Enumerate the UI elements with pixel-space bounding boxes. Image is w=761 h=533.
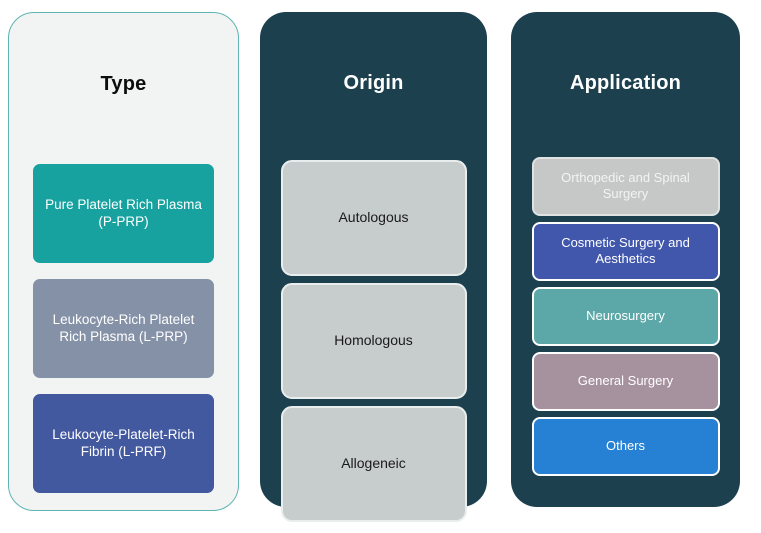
card-label: Cosmetic Surgery and Aesthetics	[561, 235, 690, 268]
card-label: Leukocyte-Platelet-Rich Fibrin (L-PRF)	[52, 426, 195, 460]
card-label-line2: Fibrin (L-PRF)	[81, 444, 167, 459]
card-autologous[interactable]: Autologous	[281, 160, 467, 276]
card-orthopedic-and-spinal-surgery[interactable]: Orthopedic and Spinal Surgery	[532, 157, 720, 216]
card-homologous[interactable]: Homologous	[281, 283, 467, 399]
card-label-line1: Cosmetic Surgery and	[561, 235, 690, 250]
card-label-line2: (P-PRP)	[98, 214, 148, 229]
card-neurosurgery[interactable]: Neurosurgery	[532, 287, 720, 346]
prp-classification-diagram: Type Pure Platelet Rich Plasma (P-PRP) L…	[0, 0, 761, 533]
card-stack-origin: Autologous Homologous Allogeneic	[260, 160, 487, 522]
card-label-line2: Rich Plasma (L-PRP)	[59, 329, 187, 344]
card-label: Allogeneic	[341, 455, 406, 473]
card-label: Leukocyte-Rich Platelet Rich Plasma (L-P…	[53, 311, 195, 345]
card-label-line1: Leukocyte-Rich Platelet	[53, 312, 195, 327]
card-label: Pure Platelet Rich Plasma (P-PRP)	[45, 196, 202, 230]
column-title-application: Application	[511, 72, 740, 95]
column-title-origin: Origin	[260, 72, 487, 95]
card-leukocyte-platelet-rich-fibrin[interactable]: Leukocyte-Platelet-Rich Fibrin (L-PRF)	[31, 392, 216, 495]
card-label: Others	[606, 438, 645, 454]
card-stack-application: Orthopedic and Spinal Surgery Cosmetic S…	[511, 157, 740, 476]
card-label-line1: Pure Platelet Rich Plasma	[45, 197, 202, 212]
card-cosmetic-surgery-and-aesthetics[interactable]: Cosmetic Surgery and Aesthetics	[532, 222, 720, 281]
column-panel-application: Application Orthopedic and Spinal Surger…	[511, 12, 740, 507]
card-allogeneic[interactable]: Allogeneic	[281, 406, 467, 522]
card-label-line2: Surgery	[603, 186, 649, 201]
card-label: Autologous	[338, 209, 408, 227]
card-label-line1: Leukocyte-Platelet-Rich	[52, 427, 195, 442]
card-label-line2: Aesthetics	[596, 251, 656, 266]
column-title-type: Type	[9, 73, 238, 96]
card-general-surgery[interactable]: General Surgery	[532, 352, 720, 411]
card-label: Neurosurgery	[586, 308, 665, 324]
card-label-line1: Orthopedic and Spinal	[561, 170, 690, 185]
column-panel-origin: Origin Autologous Homologous Allogeneic	[260, 12, 487, 507]
card-label: Orthopedic and Spinal Surgery	[561, 170, 690, 203]
card-others[interactable]: Others	[532, 417, 720, 476]
card-leukocyte-rich-platelet-rich-plasma[interactable]: Leukocyte-Rich Platelet Rich Plasma (L-P…	[31, 277, 216, 380]
column-panel-type: Type Pure Platelet Rich Plasma (P-PRP) L…	[8, 12, 239, 511]
card-pure-platelet-rich-plasma[interactable]: Pure Platelet Rich Plasma (P-PRP)	[31, 162, 216, 265]
card-label: Homologous	[334, 332, 413, 350]
card-label: General Surgery	[578, 373, 673, 389]
card-stack-type: Pure Platelet Rich Plasma (P-PRP) Leukoc…	[9, 162, 238, 495]
